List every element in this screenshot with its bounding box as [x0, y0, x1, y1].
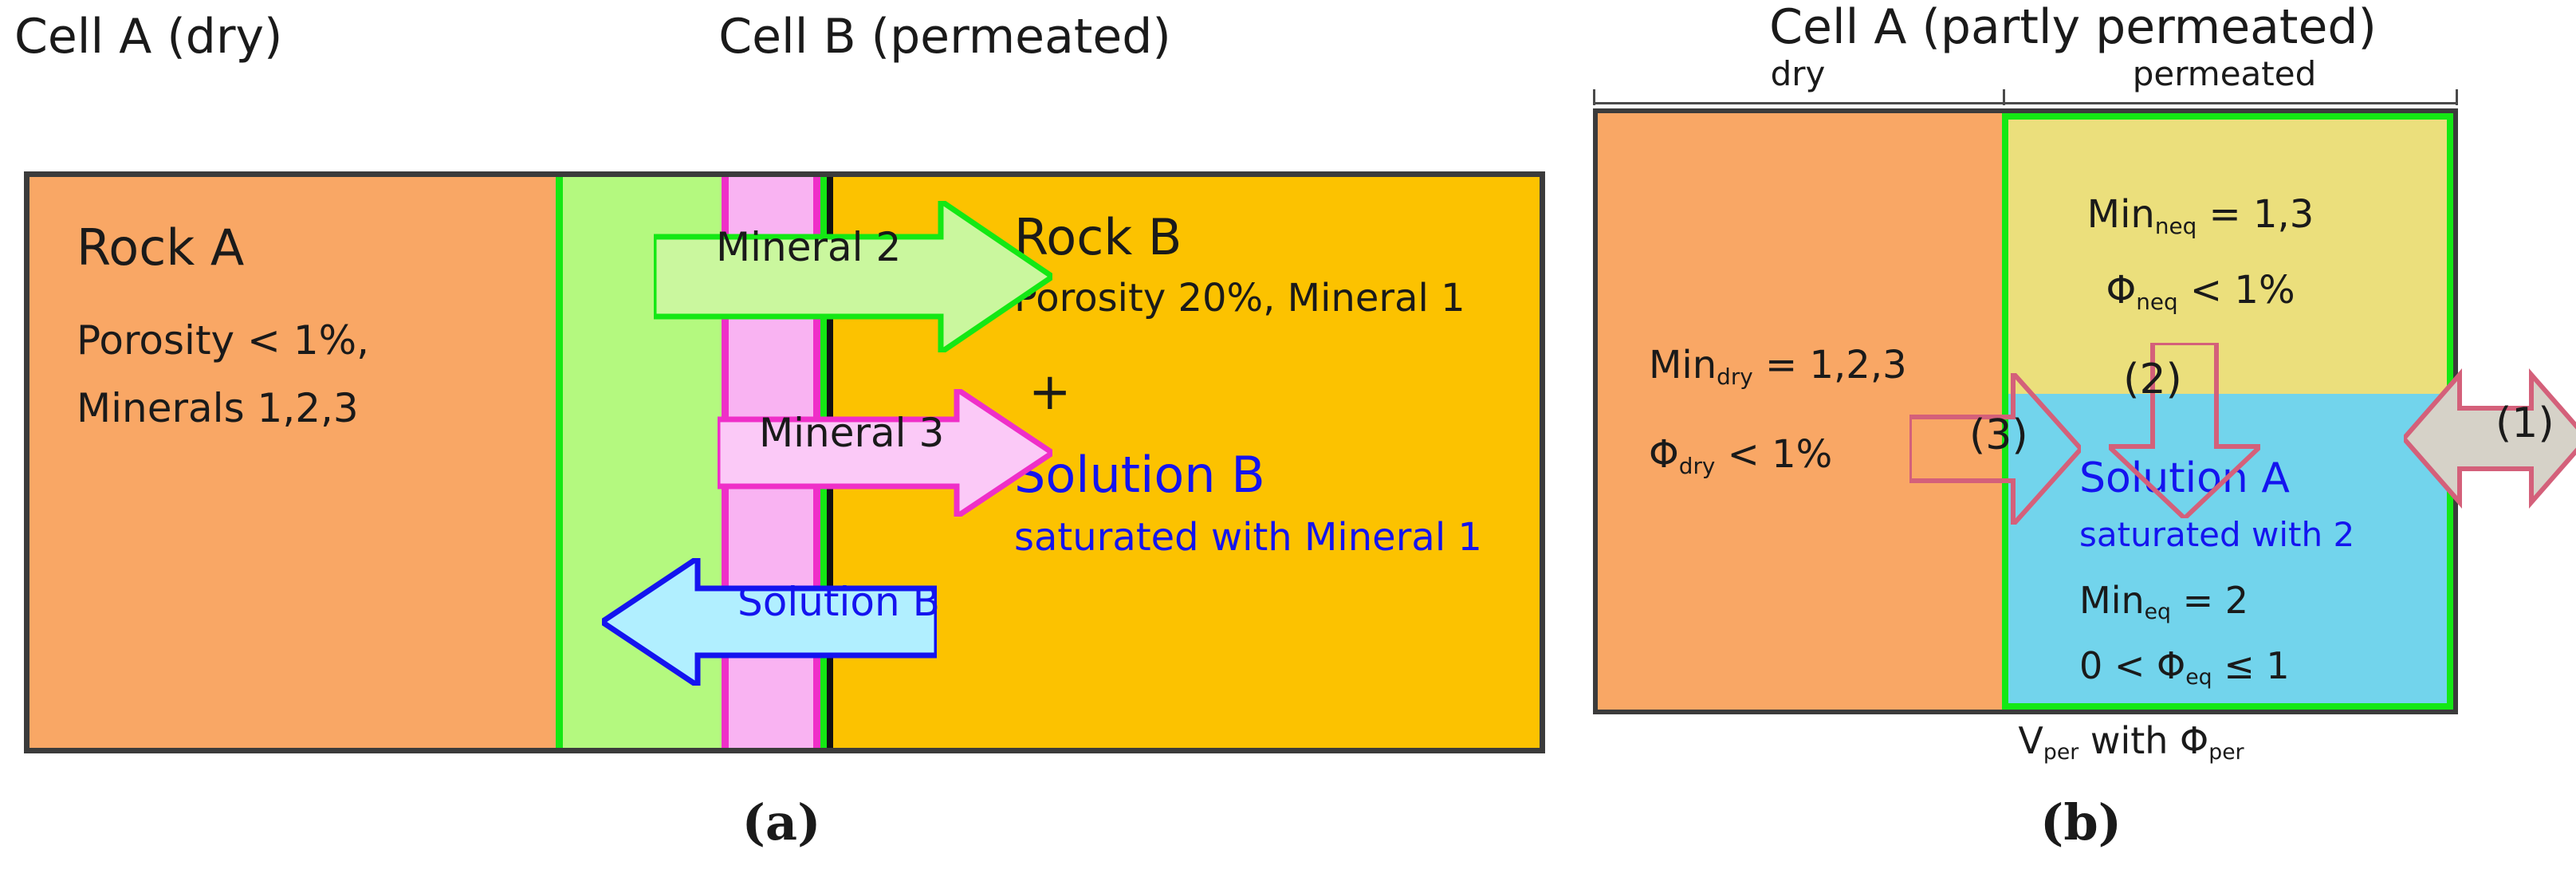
volume-permeated-caption: Vper with Φper — [2018, 722, 2244, 759]
arrow-2-label: (2) — [2123, 359, 2182, 400]
min-neq-subscript: neq — [2155, 213, 2196, 239]
phi-dry-label: Φdry < 1% — [1649, 435, 1832, 474]
min-neq-symbol: Min — [2087, 192, 2155, 237]
min-dry-symbol: Min — [1649, 343, 1717, 387]
rock-a-title: Rock A — [77, 223, 244, 273]
phi-neq-subscript: neq — [2136, 289, 2177, 315]
arrow-mineral-2-label: Mineral 2 — [716, 227, 901, 267]
span-tick-left — [1593, 89, 1595, 105]
min-eq-label: Mineq = 2 — [2079, 582, 2248, 619]
phi-dry-symbol: Φ — [1649, 432, 1679, 477]
solution-a-subtitle: saturated with 2 — [2079, 518, 2354, 552]
min-eq-value: = 2 — [2171, 579, 2248, 622]
phi-neq-label: Φneq < 1% — [2106, 271, 2295, 309]
arrow-3-label: (3) — [1969, 415, 2028, 456]
span-tick-right — [2456, 89, 2458, 105]
panel-a-header-cell-a: Cell A (dry) — [14, 13, 282, 61]
phi-neq-value: < 1% — [2178, 268, 2295, 313]
panel-a-header-cell-b: Cell B (permeated) — [718, 13, 1171, 61]
v-mid-text: with Φ — [2078, 719, 2208, 762]
arrow-1-label: (1) — [2495, 403, 2554, 444]
phi-per-subscript: per — [2208, 740, 2244, 765]
phi-neq-symbol: Φ — [2106, 268, 2136, 313]
v-subscript: per — [2043, 740, 2078, 765]
min-dry-label: Mindry = 1,2,3 — [1649, 346, 1907, 384]
phi-eq-value: ≤ 1 — [2212, 644, 2290, 687]
solution-b-subtitle: saturated with Mineral 1 — [1014, 518, 1482, 556]
min-neq-value: = 1,3 — [2196, 192, 2314, 237]
min-eq-subscript: eq — [2145, 600, 2171, 624]
phi-dry-value: < 1% — [1715, 432, 1832, 477]
min-dry-subscript: dry — [1717, 364, 1753, 390]
panel-b-header: Cell A (partly permeated) — [1769, 3, 2377, 51]
v-symbol: V — [2018, 719, 2043, 762]
min-eq-symbol: Min — [2079, 579, 2145, 622]
panel-a-caption: (a) — [742, 793, 821, 851]
phi-dry-subscript: dry — [1679, 453, 1716, 479]
phi-eq-label: 0 < Φeq ≤ 1 — [2079, 647, 2290, 684]
rock-a-porosity: Porosity < 1%, — [77, 320, 369, 360]
rock-a-minerals: Minerals 1,2,3 — [77, 388, 359, 428]
phi-eq-subscript: eq — [2185, 665, 2212, 690]
span-label-dry: dry — [1771, 57, 1826, 91]
arrow-solution-b-label: Solution B — [737, 582, 940, 622]
rock-b-properties: Porosity 20%, Mineral 1 — [1014, 279, 1465, 317]
min-dry-value: = 1,2,3 — [1753, 343, 1907, 387]
span-label-permeated: permeated — [2133, 57, 2317, 91]
figure-root: Cell A (dry) Cell B (permeated) Rock A P… — [0, 0, 2576, 873]
panel-b-caption: (b) — [2040, 793, 2122, 851]
min-neq-label: Minneq = 1,3 — [2087, 195, 2314, 234]
arrow-mineral-3-label: Mineral 3 — [759, 413, 944, 453]
span-rule — [1593, 102, 2458, 104]
phi-eq-prefix: 0 < Φ — [2079, 644, 2185, 687]
span-tick-middle — [2003, 89, 2005, 105]
